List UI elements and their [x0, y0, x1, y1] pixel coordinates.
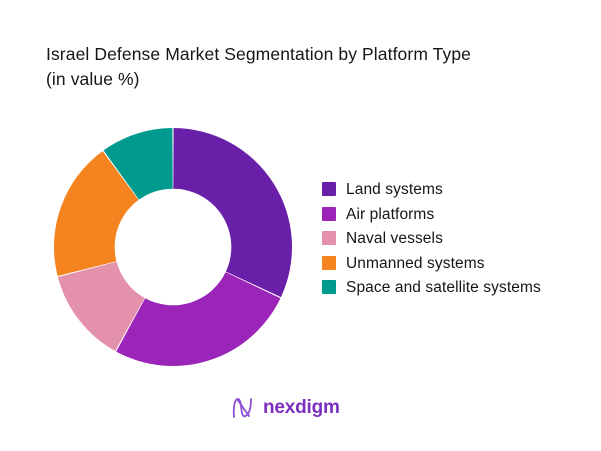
chart-legend: Land systems Air platforms Naval vessels… [322, 179, 572, 302]
donut-slice[interactable] [173, 128, 292, 297]
legend-item-label: Land systems [346, 179, 443, 200]
chart-page: Israel Defense Market Segmentation by Pl… [0, 0, 601, 451]
brand-logo: nexdigm [230, 396, 340, 420]
legend-item-label: Unmanned systems [346, 253, 485, 274]
brand-name: nexdigm [263, 397, 340, 419]
legend-swatch-icon [322, 256, 336, 270]
donut-chart-svg [54, 128, 292, 366]
legend-swatch-icon [322, 231, 336, 245]
legend-swatch-icon [322, 182, 336, 196]
nexdigm-mark-icon [230, 396, 256, 420]
legend-swatch-icon [322, 280, 336, 294]
legend-item-naval-vessels[interactable]: Naval vessels [322, 228, 572, 249]
page-title: Israel Defense Market Segmentation by Pl… [46, 42, 566, 92]
legend-item-label: Space and satellite systems [346, 277, 541, 298]
legend-item-label: Air platforms [346, 204, 434, 225]
legend-item-land-systems[interactable]: Land systems [322, 179, 572, 200]
legend-item-unmanned-systems[interactable]: Unmanned systems [322, 253, 572, 274]
legend-item-air-platforms[interactable]: Air platforms [322, 204, 572, 225]
legend-item-label: Naval vessels [346, 228, 443, 249]
legend-item-space-and-satellite-systems[interactable]: Space and satellite systems [322, 277, 572, 298]
donut-slice-group [54, 128, 292, 366]
legend-swatch-icon [322, 207, 336, 221]
donut-slice[interactable] [116, 272, 280, 366]
donut-chart [54, 128, 292, 366]
